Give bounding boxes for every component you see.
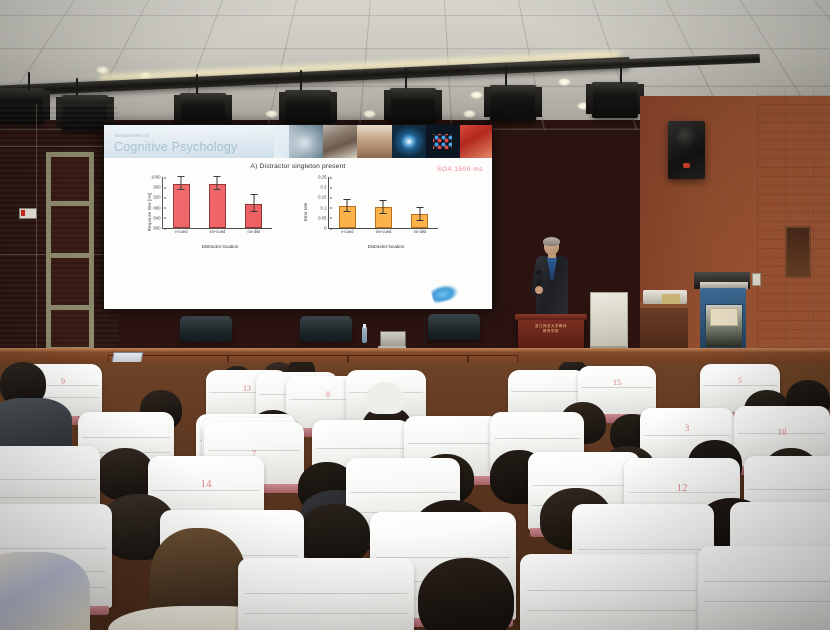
jbl-speaker [668,121,705,179]
speaker-cone [675,126,698,149]
stage-light-fixture [390,88,436,124]
ceiling-downlight [363,110,376,118]
electrode-dot-array-image [426,125,460,158]
seat[interactable] [238,558,414,630]
slide-header-banner: Department of Cognitive Psychology [104,125,492,158]
xtick: inv-cued [197,229,237,234]
chart-response-time: Response time [ms] 800 840 880 920 960 1… [128,173,278,251]
ytick: 840 [153,215,163,220]
xtick: v-cued [161,229,201,234]
chart-right-plot-area: 0 0.05 0.1 0.15 0.2 0.25 v-cued [328,177,438,229]
presenter-hair [543,237,560,246]
bar-no-dist [411,214,428,228]
audience-head [366,382,404,414]
podium-text: 浙江师范大学教师 教育学院 [518,324,584,334]
wall-light-switch[interactable] [752,273,761,286]
side-table [640,302,688,354]
audience-area: 9 13 18 8 15 5 [0,362,830,630]
banner-image-strip [289,125,492,158]
light-cable [620,62,622,84]
bar-group: v-cued [173,177,190,228]
eye-tracking-image [392,125,426,158]
ytick: 1000 [151,175,163,180]
banner-fade [274,125,304,158]
ceiling-downlight [96,66,109,74]
seat-number: 5 [700,376,780,385]
ytick: 0.15 [318,195,329,200]
seat-number: 12 [624,482,740,494]
ytick: 960 [153,185,163,190]
table-microphone [424,318,425,344]
bar-v-cued [339,206,356,228]
laptop [378,331,406,349]
seat-number: 3 [640,423,734,433]
whiteboard-easel [590,292,628,350]
red-eeg-cap-image [460,125,492,158]
cabinet-label [710,308,738,326]
ytick: 0.25 [318,175,329,180]
projected-slide: Department of Cognitive Psychology A) Di… [104,125,492,309]
xtick: inv-cued [363,229,403,234]
audience-head [298,504,370,566]
blue-swoosh-logo [430,282,459,304]
xtick: no-dist [400,229,440,234]
ceiling-downlight [558,78,571,86]
podium-text-line2: 教育学院 [518,329,584,334]
bar-group: inv-cued [209,177,226,228]
audience-head [418,558,514,630]
seat-number: 15 [578,378,656,387]
stage-light-fixture [285,90,331,126]
bar-v-cued [173,184,190,228]
bar-group: no-dist [411,177,428,228]
bar-group: v-cued [339,177,356,228]
chart-left-ylabel: Response time [ms] [147,193,152,232]
bar-group: no-dist [245,177,262,228]
seat-number: 10 [734,427,830,437]
light-cable [196,74,198,94]
blue-equipment-cabinet[interactable] [700,288,746,350]
ceiling-downlight [463,110,476,118]
ytick: 0.2 [321,185,329,190]
chart-left-plot-area: 800 840 880 920 960 1000 v-cued [162,177,272,229]
bar-no-dist [245,204,262,228]
chart-error-rate: Error rate 0 0.05 0.1 0.15 0.2 0.25 v-cu… [294,173,444,251]
slide-dept-line1: Department of [115,133,149,138]
audience-shoulders [0,552,90,630]
wall-vent [785,226,811,278]
stage-light-fixture [490,85,536,121]
ytick: 0.1 [321,205,329,210]
stage-light-fixture [592,82,638,118]
conference-chair [428,314,480,340]
audience-shoulders [0,398,72,452]
light-cable [76,78,78,96]
slide-title: A) Distractor singleton present [104,163,492,170]
lecture-hall-photo: Department of Cognitive Psychology A) Di… [0,0,830,630]
seat[interactable] [520,554,704,630]
chart-left-bars: v-cued inv-cued [163,177,272,228]
dot-array [433,134,452,149]
slide-dept-line2: Cognitive Psychology [114,140,238,154]
ytick: 880 [153,205,163,210]
podium-top [515,314,587,320]
soa-condition-label: SOA 1500 ms [437,166,483,173]
bar-inv-cued [375,207,392,228]
presenter-hand [535,286,543,294]
bar-inv-cued [209,184,226,228]
chart-left-xlabel: Distractor location [162,244,278,249]
side-door[interactable] [46,152,94,352]
light-cable [300,70,302,91]
chart-right-xlabel: Distractor location [328,244,444,249]
face-electrodes-image [357,125,391,158]
eeg-cap-participant-image [323,125,357,158]
chart-right-bars: v-cued inv-cued [329,177,438,228]
table-box [662,294,680,304]
seat[interactable] [698,546,830,630]
bar-group: inv-cued [375,177,392,228]
light-cable [505,66,507,86]
audience-head [96,448,154,500]
ceiling-downlight [470,91,483,99]
presenter [535,238,569,322]
ytick: 920 [153,195,163,200]
chart-right-ylabel: Error rate [303,203,308,222]
xtick: no-dist [234,229,274,234]
xtick: v-cued [327,229,367,234]
light-cable [28,72,30,90]
seat-number: 14 [148,478,264,490]
light-cable [405,68,407,89]
conference-chair [300,316,352,342]
conference-chair [180,316,232,342]
ceiling-downlight [265,110,278,118]
ytick: 0.05 [318,215,329,220]
wall-notice-sign [19,208,37,219]
water-bottle [362,327,367,343]
speaker-logo [683,163,690,168]
